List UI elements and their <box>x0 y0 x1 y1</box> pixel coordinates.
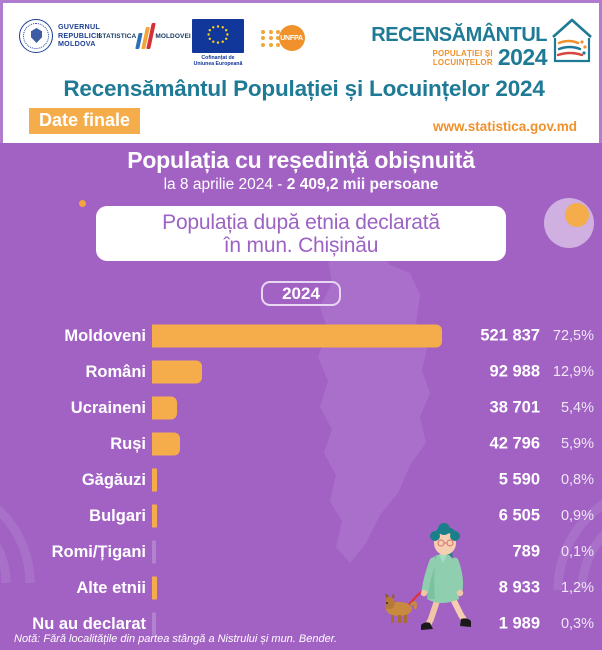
chart-row-percent: 5,9% <box>546 436 594 452</box>
woman-walking-dog-illustration <box>385 521 490 633</box>
statistica-word: STATISTICA <box>98 33 136 40</box>
chart-row-percent: 12,9% <box>546 364 594 380</box>
chart-title-card: Populația după etnia declarată în mun. C… <box>96 206 506 261</box>
decorative-dot <box>79 200 86 207</box>
section-subheading: la 8 aprilie 2024 - 2 409,2 mii persoane <box>0 176 602 194</box>
chart-row-label: Români <box>0 363 152 382</box>
chart-row-percent: 72,5% <box>546 328 594 344</box>
chart-bar-zone: 5 5900,8% <box>152 462 602 498</box>
chart-row-label: Găgăuzi <box>0 471 152 490</box>
unfpa-label: UNFPA <box>279 25 305 51</box>
logo-row: GUVERNUL REPUBLICII MOLDOVA STATISTICA M… <box>3 11 602 69</box>
census-brand-subtitle: POPULAȚIEI ȘI LOCUINȚELOR <box>432 49 492 67</box>
statistica-bars-icon <box>136 23 157 49</box>
chart-bar <box>152 397 177 420</box>
chart-title-line-1: Populația după etnia declarată <box>162 211 440 234</box>
census-house-mark-icon <box>549 17 595 67</box>
chart-row-label: Bulgari <box>0 507 152 526</box>
chart-row: Români92 98812,9% <box>0 354 602 390</box>
chart-bar-zone: 38 7015,4% <box>152 390 602 426</box>
eu-stars-icon <box>192 19 244 53</box>
woman-icon <box>421 523 471 630</box>
decorative-circle-accent <box>565 203 589 227</box>
chart-title-line-2: în mun. Chișinău <box>224 234 378 257</box>
chart-row-percent: 0,9% <box>546 508 594 524</box>
government-moldova-logo: GUVERNUL REPUBLICII MOLDOVA <box>19 19 101 53</box>
chart-row: Alte etnii8 9331,2% <box>0 570 602 606</box>
census-brand-title: RECENSĂMÂNTUL <box>371 25 547 46</box>
chart-row-label: Romi/Țigani <box>0 543 152 562</box>
year-badge: 2024 <box>261 281 341 306</box>
chart-row-percent: 0,8% <box>546 472 594 488</box>
european-union-logo: Cofinanțat de Uniunea Europeană <box>185 19 251 67</box>
chart-bar-zone: 7890,1% <box>152 534 602 570</box>
section-heading: Populația cu reședință obișnuită <box>0 147 602 174</box>
chart-bar <box>152 361 202 384</box>
state-seal-icon <box>19 19 53 53</box>
header-band: GUVERNUL REPUBLICII MOLDOVA STATISTICA M… <box>0 0 602 143</box>
chart-row-label: Alte etnii <box>0 579 152 598</box>
chart-bar <box>152 433 180 456</box>
chart-bar <box>152 469 157 492</box>
chart-row-value: 1 989 <box>499 615 540 634</box>
content-area: Populația cu reședință obișnuită la 8 ap… <box>0 143 602 650</box>
census-sub-line-2: LOCUINȚELOR <box>432 58 492 67</box>
statistica-moldovei-logo: STATISTICA MOLDOVEI <box>98 23 191 49</box>
reference-date-label: la 8 aprilie 2024 - <box>164 176 287 193</box>
unfpa-logo: UNFPA <box>261 25 305 51</box>
chart-row-value: 5 590 <box>499 471 540 490</box>
chart-bar-zone: 6 5050,9% <box>152 498 602 534</box>
eu-flag-icon <box>192 19 244 53</box>
chart-bar <box>152 325 442 348</box>
chart-row-value: 38 701 <box>490 399 540 418</box>
chart-row-percent: 0,1% <box>546 544 594 560</box>
chart-row: Moldoveni521 83772,5% <box>0 318 602 354</box>
chart-row-value: 42 796 <box>490 435 540 454</box>
chart-bar <box>152 505 157 528</box>
census-brand-text: RECENSĂMÂNTUL POPULAȚIEI ȘI LOCUINȚELOR … <box>371 25 547 67</box>
eu-caption-line-2: Uniunea Europeană <box>185 61 251 67</box>
footnote: Notă: Fără localitățile din partea stâng… <box>14 633 337 645</box>
census-brand-logo: RECENSĂMÂNTUL POPULAȚIEI ȘI LOCUINȚELOR … <box>371 17 595 67</box>
census-brand-year: 2024 <box>498 47 547 67</box>
chart-bar <box>152 541 156 564</box>
chart-bar <box>152 577 157 600</box>
website-url[interactable]: www.statistica.gov.md <box>433 119 577 134</box>
chart-bar-zone: 521 83772,5% <box>152 318 602 354</box>
infographic-page: GUVERNUL REPUBLICII MOLDOVA STATISTICA M… <box>0 0 602 650</box>
government-moldova-label: GUVERNUL REPUBLICII MOLDOVA <box>58 23 101 48</box>
status-badge: Date finale <box>29 108 140 134</box>
chart-bar-zone: 92 98812,9% <box>152 354 602 390</box>
chart-row-label: Moldoveni <box>0 327 152 346</box>
census-sub-line-1: POPULAȚIEI ȘI <box>432 49 492 58</box>
chart-row-percent: 0,3% <box>546 616 594 632</box>
chart-row-value: 789 <box>512 543 540 562</box>
chart-bar-zone: 42 7965,9% <box>152 426 602 462</box>
chart-row-label: Nu au declarat <box>0 615 152 634</box>
chart-row-value: 521 837 <box>480 327 540 346</box>
chart-row-label: Ruși <box>0 435 152 454</box>
chart-row: Bulgari6 5050,9% <box>0 498 602 534</box>
chart-row-value: 6 505 <box>499 507 540 526</box>
chart-row: Romi/Țigani7890,1% <box>0 534 602 570</box>
chart-row: Ruși42 7965,9% <box>0 426 602 462</box>
chart-row: Ucraineni38 7015,4% <box>0 390 602 426</box>
chart-row-value: 8 933 <box>499 579 540 598</box>
dog-icon <box>385 593 416 623</box>
total-population-value: 2 409,2 mii persoane <box>287 176 439 193</box>
page-title: Recensământul Populației și Locuințelor … <box>3 76 602 102</box>
gov-line-3: MOLDOVA <box>58 40 101 48</box>
eu-cofinance-caption: Cofinanțat de Uniunea Europeană <box>185 55 251 67</box>
chart-row: Găgăuzi5 5900,8% <box>0 462 602 498</box>
chart-row-label: Ucraineni <box>0 399 152 418</box>
chart-bar-zone: 8 9331,2% <box>152 570 602 606</box>
chart-row-percent: 1,2% <box>546 580 594 596</box>
chart-row-percent: 5,4% <box>546 400 594 416</box>
ethnicity-bar-chart: Moldoveni521 83772,5%Români92 98812,9%Uc… <box>0 318 602 642</box>
chart-row-value: 92 988 <box>490 363 540 382</box>
